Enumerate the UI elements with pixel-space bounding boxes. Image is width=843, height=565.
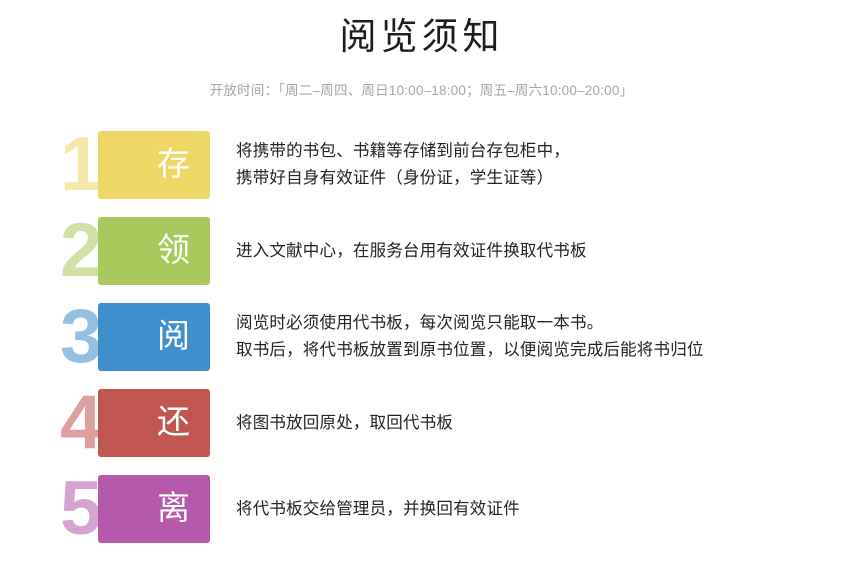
step-description-line: 取书后，将代书板放置到原书位置，以便阅览完成后能将书归位 xyxy=(236,337,825,364)
step-badge: 1 存 xyxy=(60,131,210,199)
step-badge: 5 离 xyxy=(60,475,210,543)
step-row: 2 领 进入文献中心，在服务台用有效证件换取代书板 xyxy=(60,208,825,294)
step-row: 3 阅 阅览时必须使用代书板，每次阅览只能取一本书。 取书后，将代书板放置到原书… xyxy=(60,294,825,380)
step-number: 4 xyxy=(60,385,102,461)
poster-header: 阅览须知 开放时间：「周二–周四、周日10:00–18:00；周五–周六10:0… xyxy=(0,0,843,100)
step-row: 5 离 将代书板交给管理员，并换回有效证件 xyxy=(60,466,825,552)
step-glyph: 存 xyxy=(157,147,190,183)
step-description-line: 进入文献中心，在服务台用有效证件换取代书板 xyxy=(236,238,825,265)
reading-notice-poster: 阅览须知 开放时间：「周二–周四、周日10:00–18:00；周五–周六10:0… xyxy=(0,0,843,565)
step-number: 2 xyxy=(60,213,102,289)
step-description: 进入文献中心，在服务台用有效证件换取代书板 xyxy=(210,238,825,265)
step-description: 阅览时必须使用代书板，每次阅览只能取一本书。 取书后，将代书板放置到原书位置，以… xyxy=(210,310,825,364)
step-glyph: 领 xyxy=(157,233,190,269)
step-color-block xyxy=(98,389,210,457)
step-description: 将携带的书包、书籍等存储到前台存包柜中， 携带好自身有效证件（身份证，学生证等） xyxy=(210,138,825,192)
step-row: 4 还 将图书放回原处，取回代书板 xyxy=(60,380,825,466)
step-description: 将代书板交给管理员，并换回有效证件 xyxy=(210,496,825,523)
step-color-block xyxy=(98,475,210,543)
step-description-line: 将图书放回原处，取回代书板 xyxy=(236,410,825,437)
step-description-line: 阅览时必须使用代书板，每次阅览只能取一本书。 xyxy=(236,310,825,337)
step-description-line: 将代书板交给管理员，并换回有效证件 xyxy=(236,496,825,523)
step-number: 1 xyxy=(60,127,102,203)
step-glyph: 还 xyxy=(157,405,190,441)
step-number: 5 xyxy=(60,471,102,547)
opening-hours-text: 开放时间：「周二–周四、周日10:00–18:00；周五–周六10:00–20:… xyxy=(0,82,843,100)
step-glyph: 阅 xyxy=(157,319,190,355)
step-color-block xyxy=(98,217,210,285)
steps-list: 1 存 将携带的书包、书籍等存储到前台存包柜中， 携带好自身有效证件（身份证，学… xyxy=(0,122,843,552)
step-number: 3 xyxy=(60,299,102,375)
step-badge: 4 还 xyxy=(60,389,210,457)
step-row: 1 存 将携带的书包、书籍等存储到前台存包柜中， 携带好自身有效证件（身份证，学… xyxy=(60,122,825,208)
step-badge: 2 领 xyxy=(60,217,210,285)
step-description: 将图书放回原处，取回代书板 xyxy=(210,410,825,437)
step-glyph: 离 xyxy=(157,491,190,527)
step-color-block xyxy=(98,131,210,199)
step-color-block xyxy=(98,303,210,371)
step-badge: 3 阅 xyxy=(60,303,210,371)
step-description-line: 携带好自身有效证件（身份证，学生证等） xyxy=(236,165,825,192)
step-description-line: 将携带的书包、书籍等存储到前台存包柜中， xyxy=(236,138,825,165)
page-title: 阅览须知 xyxy=(0,16,843,60)
